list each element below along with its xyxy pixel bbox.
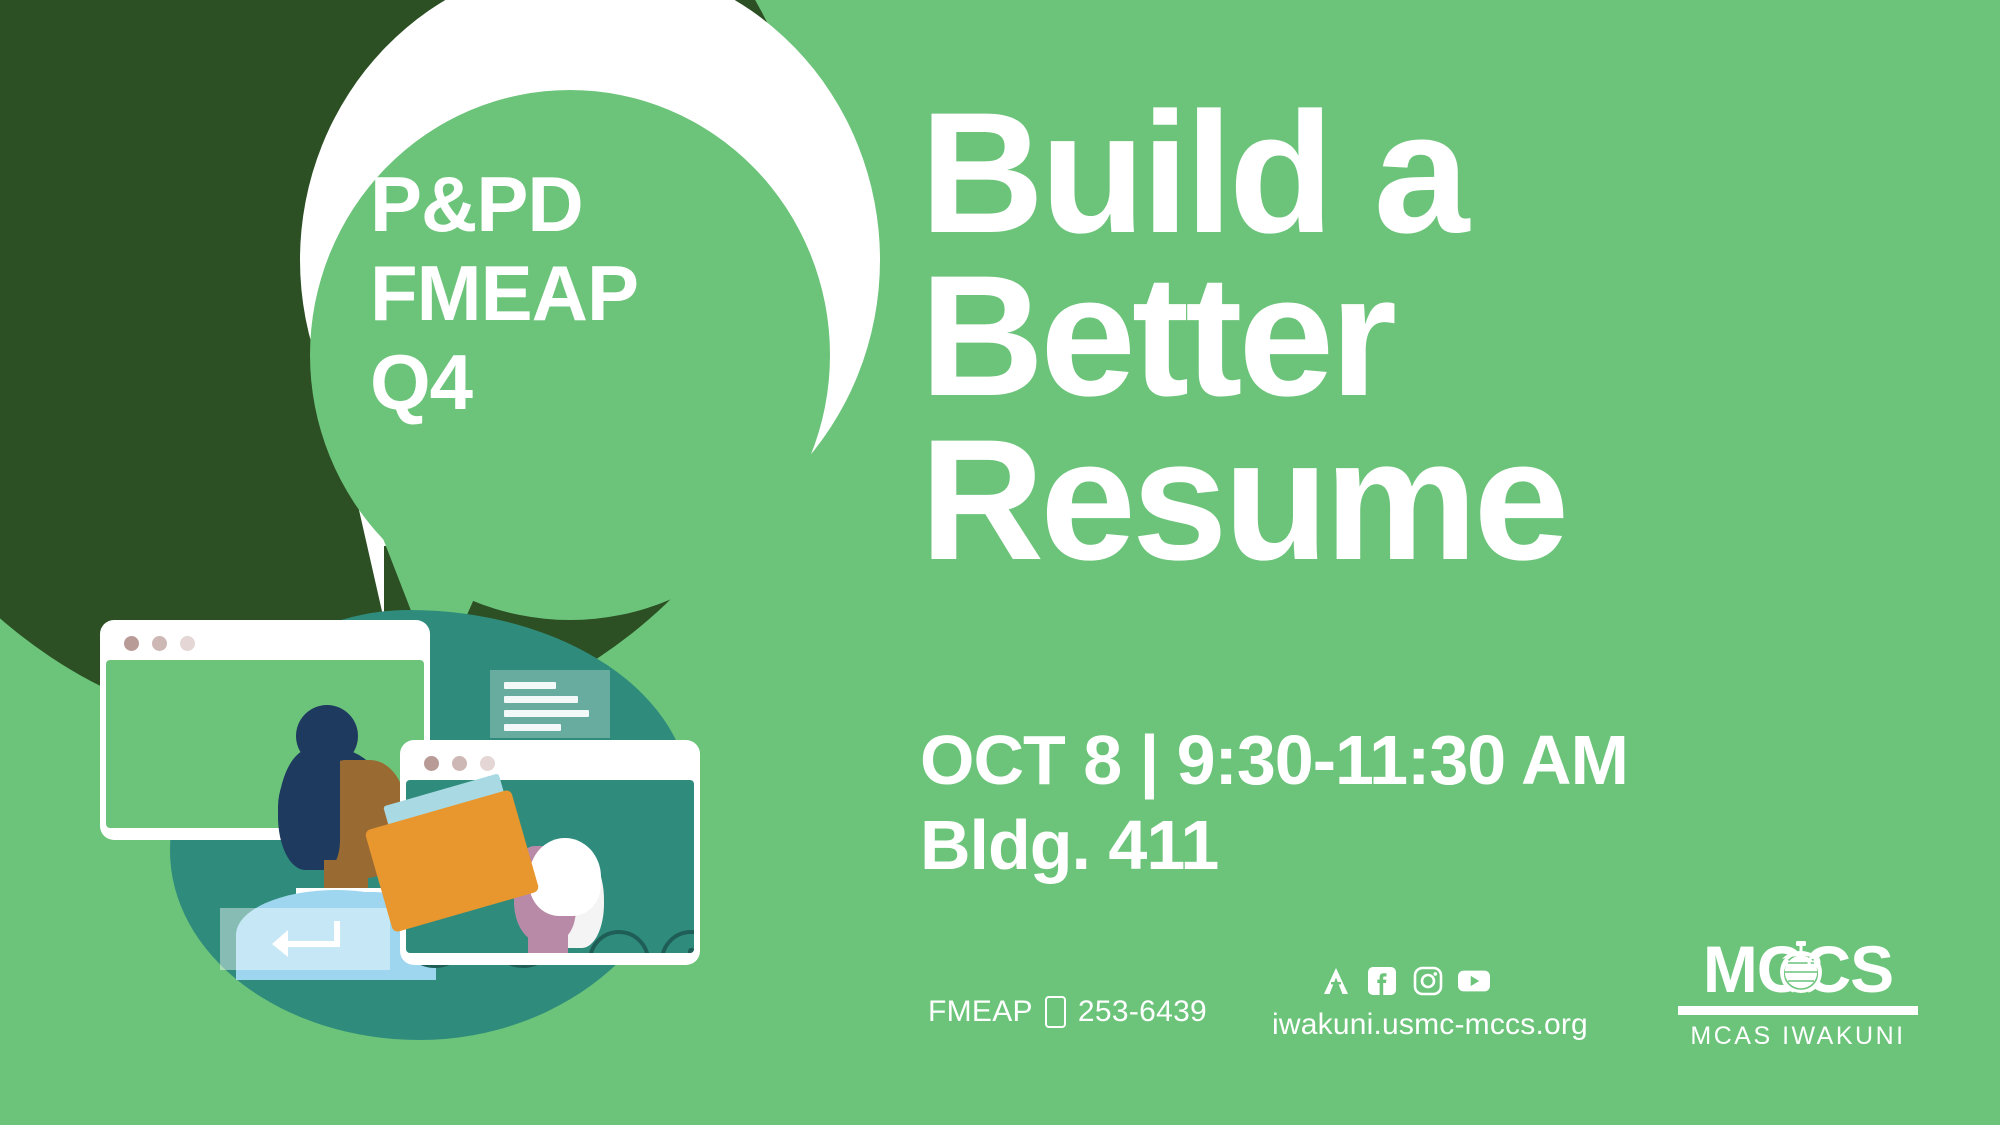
mccs-logo: MCCS MCAS IWAKUNI [1678, 938, 1918, 1051]
window-titlebar-secondary [406, 746, 694, 780]
contact-program-label: FMEAP [928, 995, 1033, 1029]
window-dot-close [124, 636, 139, 651]
window-dot-maximize [180, 636, 195, 651]
logo-divider [1678, 1006, 1918, 1015]
mobile-phone-icon [1045, 996, 1066, 1028]
panel-line [504, 710, 589, 717]
enter-key-icon[interactable] [220, 908, 390, 970]
window-dot-maximize [480, 756, 495, 771]
badge-line-three: Q4 [370, 338, 790, 427]
panel-line [504, 724, 561, 731]
facebook-icon[interactable] [1366, 965, 1398, 997]
participant-two-neck [528, 928, 568, 953]
window-dot-close [424, 756, 439, 771]
window-dot-minimize [152, 636, 167, 651]
window-dot-minimize [452, 756, 467, 771]
panel-line [504, 696, 578, 703]
youtube-icon[interactable] [1458, 965, 1490, 997]
page-title: Build a Better Resume [920, 92, 1960, 582]
event-datetime: OCT 8 | 9:30-11:30 AM [920, 718, 1920, 803]
poster-canvas: P&PD FMEAP Q4 [0, 0, 2000, 1125]
contact-phone: FMEAP 253-6439 [928, 995, 1207, 1029]
panel-line [504, 682, 556, 689]
badge-line-two: FMEAP [370, 249, 790, 338]
participant-one-hair-front [278, 748, 340, 870]
headline-line-three: Resume [920, 419, 1960, 582]
document-lines-panel [490, 670, 610, 738]
contact-phone-number: 253-6439 [1078, 995, 1207, 1029]
participant-two-hair [529, 838, 601, 916]
website-url[interactable]: iwakuni.usmc-mccs.org [1272, 1008, 1588, 1042]
microphone-icon[interactable] [660, 930, 694, 953]
window-titlebar-primary [106, 626, 424, 660]
eagle-globe-anchor-emblem [1770, 932, 1832, 1000]
app-a-icon[interactable] [1320, 965, 1352, 997]
program-badge: P&PD FMEAP Q4 [370, 160, 790, 427]
social-icons [1320, 965, 1490, 997]
headline-line-one: Build a [920, 92, 1960, 255]
instagram-icon[interactable] [1412, 965, 1444, 997]
badge-line-one: P&PD [370, 160, 790, 249]
video-call-illustration [110, 560, 920, 1070]
headline-line-two: Better [920, 255, 1960, 418]
logo-subtitle: MCAS IWAKUNI [1678, 1022, 1918, 1051]
event-location: Bldg. 411 [920, 803, 1920, 888]
event-details: OCT 8 | 9:30-11:30 AM Bldg. 411 [920, 718, 1920, 889]
